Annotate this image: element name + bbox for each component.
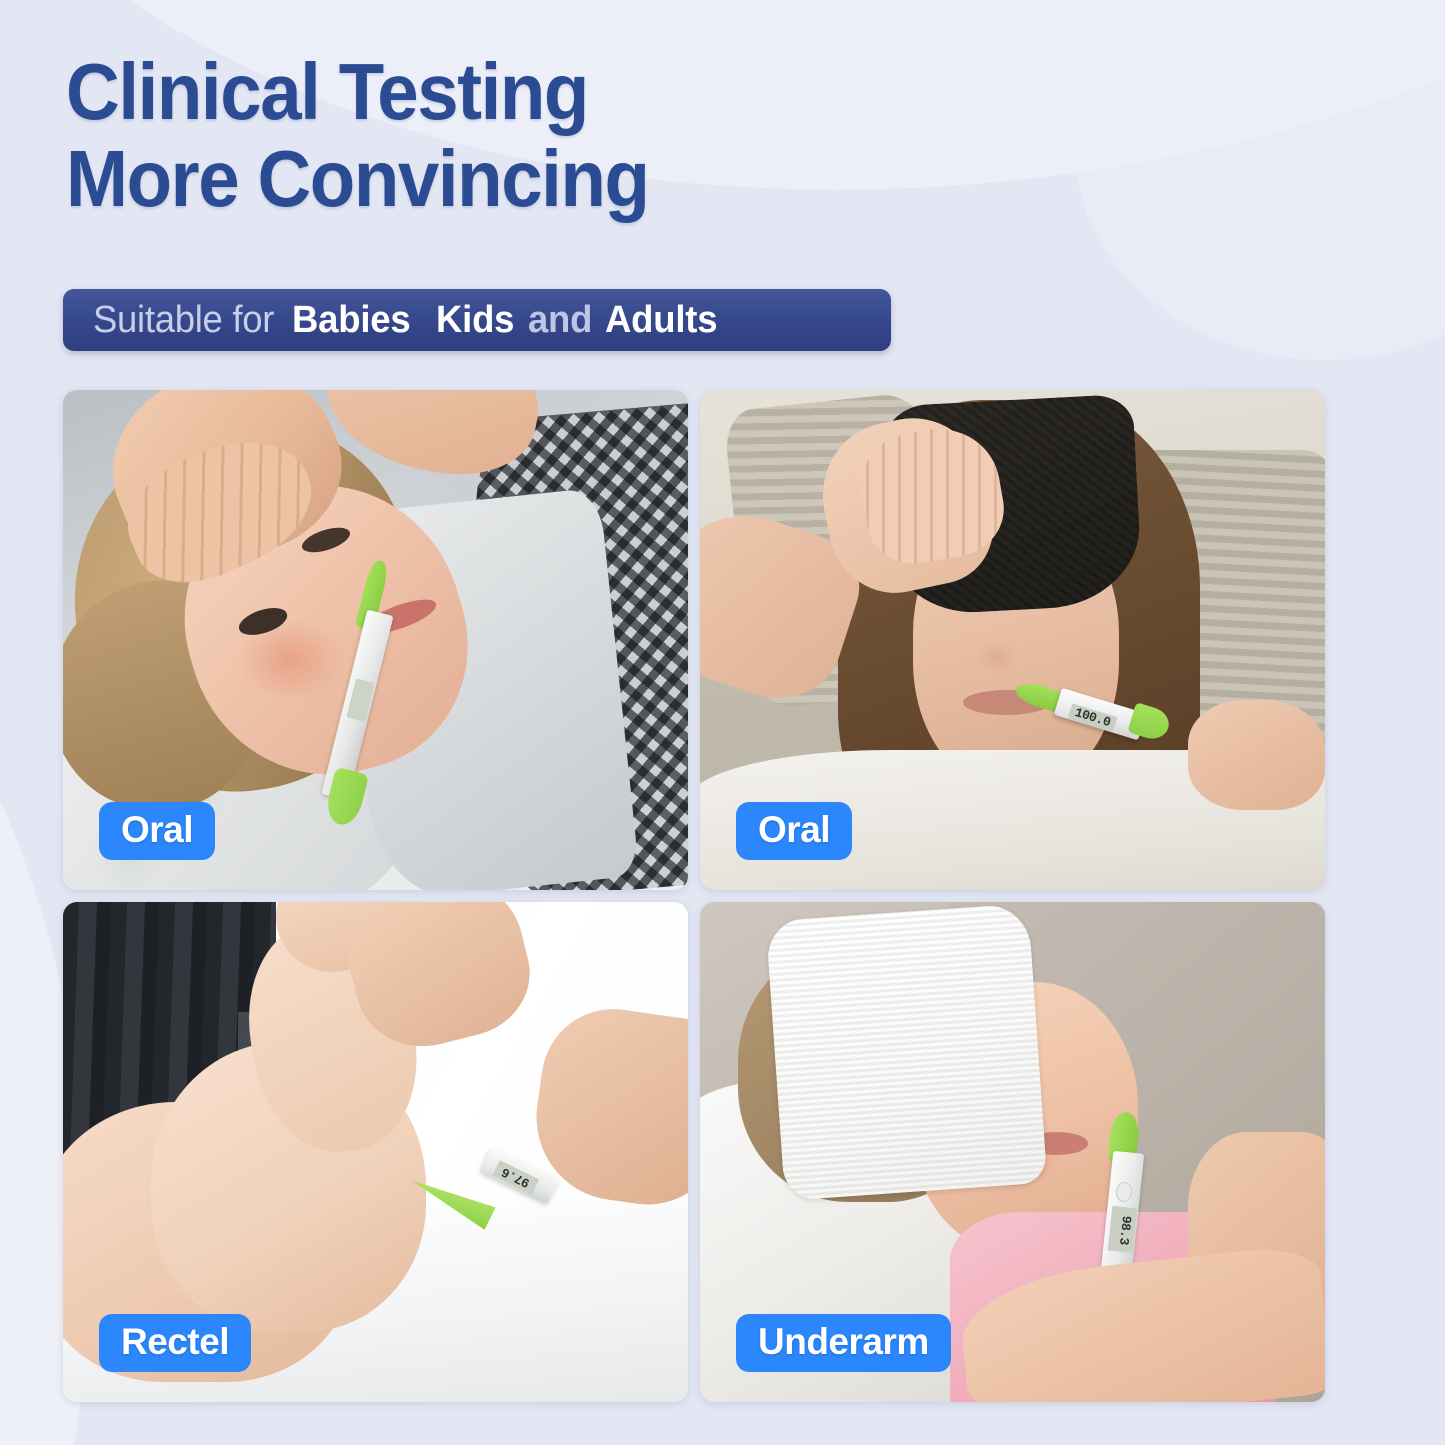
headline-line-2: More Convincing xyxy=(66,135,903,222)
badge-oral-adult: Oral xyxy=(736,802,852,860)
page-title: Clinical Testing More Convincing xyxy=(66,48,966,222)
banner-audience-2: Kids xyxy=(436,299,514,342)
banner-prefix: Suitable for xyxy=(93,299,284,342)
photo-card-oral-child[interactable]: Oral xyxy=(63,390,688,890)
photo-card-underarm-child[interactable]: 98.3 Underarm xyxy=(700,902,1325,1402)
photo-grid: Oral 10 xyxy=(63,390,1383,1410)
banner-audience-3: Adults xyxy=(605,299,717,342)
subtitle-banner: Suitable for Babies Kids and Adults xyxy=(63,289,891,351)
banner-conjunction: and xyxy=(518,299,602,342)
photo-card-oral-adult[interactable]: 100.0 Oral xyxy=(700,390,1325,890)
headline-line-1: Clinical Testing xyxy=(66,48,903,135)
badge-oral-child: Oral xyxy=(99,802,215,860)
thermometer-display: 98.3 xyxy=(1108,1206,1138,1253)
banner-separator xyxy=(415,299,435,342)
badge-rectal-baby: Rectel xyxy=(99,1314,251,1372)
thermometer-reading-text: 98.3 xyxy=(1100,1213,1149,1247)
badge-underarm-child: Underarm xyxy=(736,1314,951,1372)
banner-audience-1: Babies xyxy=(292,299,410,342)
infographic-page: Clinical Testing More Convincing Suitabl… xyxy=(0,0,1445,1445)
photo-card-rectal-baby[interactable]: 97.6 Rectel xyxy=(63,902,688,1402)
